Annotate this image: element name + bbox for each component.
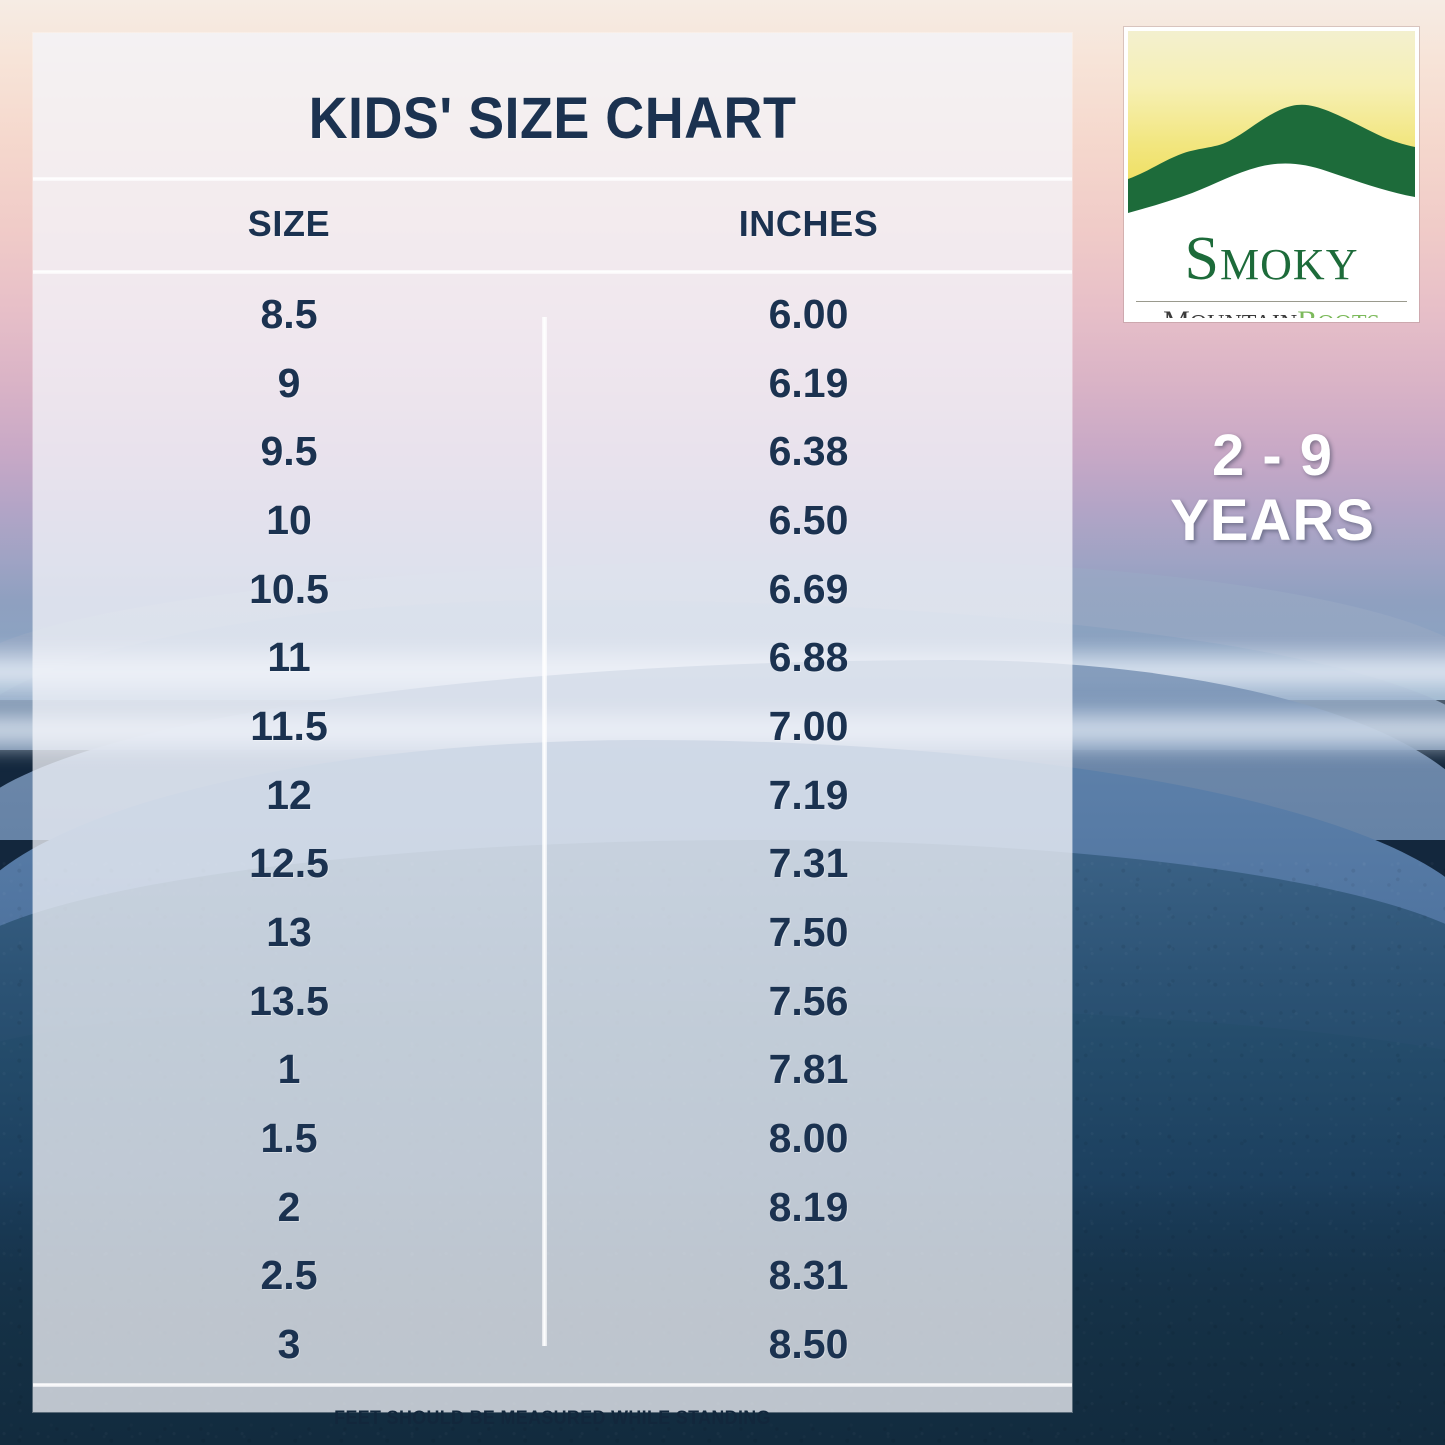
logo-subwordmark: MOUNTAINBOOTS xyxy=(1128,306,1415,322)
cell-size: 13.5 xyxy=(33,978,545,1025)
table-row: 13.57.56 xyxy=(33,967,1072,1036)
cell-size: 13 xyxy=(33,909,545,956)
cell-inches: 8.00 xyxy=(545,1115,1072,1162)
logo-boots-initial: B xyxy=(1297,305,1317,322)
cell-inches: 6.50 xyxy=(545,497,1072,544)
divider-above-header xyxy=(33,177,1072,181)
logo-wordmark-block: SMOKY MOUNTAINBOOTS xyxy=(1128,221,1415,318)
table-row: 8.56.00 xyxy=(33,280,1072,349)
cell-inches: 8.50 xyxy=(545,1321,1072,1368)
column-header-size: SIZE xyxy=(33,203,545,245)
table-row: 10.56.69 xyxy=(33,555,1072,624)
cell-size: 9 xyxy=(33,360,545,407)
logo-boots-rest: OOTS xyxy=(1317,311,1380,322)
logo-hairline xyxy=(1136,301,1407,302)
cell-inches: 8.19 xyxy=(545,1184,1072,1231)
table-row: 28.19 xyxy=(33,1173,1072,1242)
cell-inches: 7.31 xyxy=(545,840,1072,887)
logo-smoky-initial: S xyxy=(1185,225,1220,293)
cell-inches: 7.50 xyxy=(545,909,1072,956)
table-row: 116.88 xyxy=(33,623,1072,692)
table-row: 17.81 xyxy=(33,1036,1072,1105)
cell-inches: 6.88 xyxy=(545,634,1072,681)
logo-wordmark-smoky: SMOKY xyxy=(1128,221,1415,299)
cell-size: 3 xyxy=(33,1321,545,1368)
logo-mountain-rest: OUNTAIN xyxy=(1190,311,1297,322)
cell-size: 2 xyxy=(33,1184,545,1231)
table-row: 38.50 xyxy=(33,1310,1072,1379)
table-row: 1.58.00 xyxy=(33,1104,1072,1173)
logo-mountain-artwork xyxy=(1128,31,1415,227)
cell-inches: 6.00 xyxy=(545,291,1072,338)
cell-inches: 6.19 xyxy=(545,360,1072,407)
age-range-value: 2 - 9 xyxy=(1110,424,1435,488)
column-header-inches: INCHES xyxy=(545,203,1072,245)
cell-size: 11 xyxy=(33,634,545,681)
table-row: 12.57.31 xyxy=(33,830,1072,899)
cell-size: 10.5 xyxy=(33,566,545,613)
logo-smoky-rest: MOKY xyxy=(1220,240,1358,289)
table-row: 2.58.31 xyxy=(33,1242,1072,1311)
smoky-mountain-boots-logo: SMOKY MOUNTAINBOOTS xyxy=(1124,27,1419,322)
cell-size: 11.5 xyxy=(33,703,545,750)
table-row: 127.19 xyxy=(33,761,1072,830)
cell-size: 12.5 xyxy=(33,840,545,887)
cell-inches: 7.00 xyxy=(545,703,1072,750)
table-row: 9.56.38 xyxy=(33,417,1072,486)
cell-size: 12 xyxy=(33,772,545,819)
cell-inches: 7.81 xyxy=(545,1046,1072,1093)
table-row: 137.50 xyxy=(33,898,1072,967)
size-chart-graphic: KIDS' SIZE CHART SIZE INCHES 8.56.0096.1… xyxy=(0,0,1445,1445)
cell-size: 1 xyxy=(33,1046,545,1093)
cell-inches: 7.56 xyxy=(545,978,1072,1025)
cell-size: 9.5 xyxy=(33,428,545,475)
table-row: 11.57.00 xyxy=(33,692,1072,761)
divider-above-footnote xyxy=(33,1383,1072,1387)
table-body: 8.56.0096.199.56.38106.5010.56.69116.881… xyxy=(33,280,1072,1379)
divider-below-header xyxy=(33,270,1072,274)
cell-inches: 6.69 xyxy=(545,566,1072,613)
table-header-row: SIZE INCHES xyxy=(33,203,1072,245)
cell-inches: 8.31 xyxy=(545,1252,1072,1299)
cell-size: 10 xyxy=(33,497,545,544)
cell-size: 1.5 xyxy=(33,1115,545,1162)
cell-size: 8.5 xyxy=(33,291,545,338)
age-range-unit: YEARS xyxy=(1110,488,1435,554)
logo-mountain-initial: M xyxy=(1163,305,1190,322)
size-chart-card: KIDS' SIZE CHART SIZE INCHES 8.56.0096.1… xyxy=(33,33,1072,1412)
cell-inches: 6.38 xyxy=(545,428,1072,475)
table-row: 106.50 xyxy=(33,486,1072,555)
measurement-note: FEET SHOULD BE MEASURED WHILE STANDING xyxy=(64,1408,1041,1430)
page-title: KIDS' SIZE CHART xyxy=(69,85,1035,152)
table-row: 96.19 xyxy=(33,349,1072,418)
age-range-badge: 2 - 9 YEARS xyxy=(1110,424,1435,554)
cell-inches: 7.19 xyxy=(545,772,1072,819)
cell-size: 2.5 xyxy=(33,1252,545,1299)
